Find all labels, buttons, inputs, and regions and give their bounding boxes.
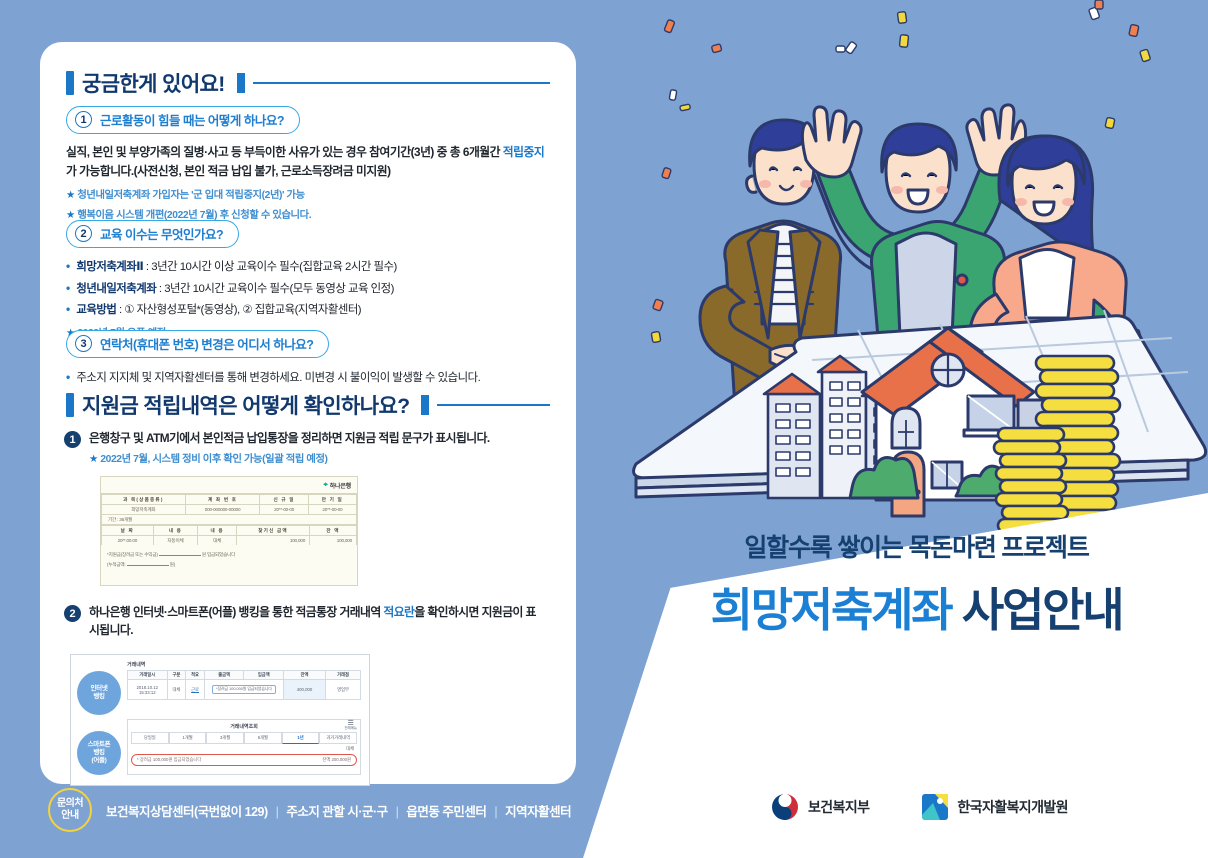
contact-badge: 문의처 안내 <box>48 788 92 832</box>
bb-val-2: 20**-00-00 <box>260 505 308 515</box>
faq-bullet-2-3-desc: : ① 자산형성포털*(동영상), ② 집합교육(지역자활센터) <box>116 304 361 316</box>
step-1-star-text: 2022년 7월, 시스템 정비 이후 확인 가능(일괄 적립 예정) <box>100 454 327 465</box>
deposit-step-1: 1 은행창구 및 ATM기에서 본인적금 납입통장을 정리하면 지원금 적립 문… <box>64 430 549 468</box>
brochure-title-main: 희망저축계좌 <box>711 584 952 636</box>
step-badge-2: 2 <box>64 605 81 622</box>
faq-pill-2[interactable]: 2 교육 이수는 무엇인가요? <box>66 220 239 248</box>
bb-head-1: 계 좌 번 호 <box>185 495 260 505</box>
logo-kdis-text: 한국자활복지개발원 <box>957 797 1068 817</box>
smartphone-header: 거래내역조회 ☰ 전체메뉴 <box>131 723 357 730</box>
contact-sep-icon: | <box>494 805 497 819</box>
brochure-kicker: 일할수록 쌓이는 목돈마련 프로젝트 <box>625 528 1208 564</box>
section-heading-faq: 궁금한게 있어요! <box>66 68 550 98</box>
smartphone-banking-pill: 스마트폰 뱅킹 (어플) <box>77 731 121 775</box>
bankbook-screenshot: ⌖ 하나은행 과 목(상품종류) 계 좌 번 호 신 규 일 만 기 일 희망저… <box>100 476 358 586</box>
deposit-step-2: 2 하나은행 인터넷·스마트폰(어플) 뱅킹을 통한 적금통장 거래내역 적요란… <box>64 604 550 639</box>
hana-bank-logo: ⌖ 하나은행 <box>323 481 351 490</box>
faq-label-3: 연락처(휴대폰 번호) 변경은 어디서 하나요? <box>100 334 313 353</box>
smartphone-red-left: * 장려금 100,000원 입금되었습니다 <box>137 757 201 763</box>
bb-period: 기간 : 36개월 <box>102 515 357 525</box>
smartphone-highlight-row: * 장려금 100,000원 입금되었습니다 잔액 200,000원 <box>131 754 357 766</box>
bb-tx-head-3: 찾기신 금액 <box>236 526 309 536</box>
step-1-text: 은행창구 및 ATM기에서 본인적금 납입통장을 정리하면 지원금 적립 문구가… <box>89 430 549 448</box>
left-info-card: 궁금한게 있어요! 1 근로활동이 힘들 때는 어떻게 하나요? 실직, 본인 … <box>40 42 576 784</box>
contact-badge-l1: 문의처 <box>57 798 83 811</box>
step-2-highlight: 적요란 <box>383 605 414 619</box>
banking-screenshot-panel: 인터넷 뱅킹 거래내역 거래일시 구분 적요 출금액 입금액 잔액 거래점 <box>70 654 370 786</box>
ib-head-row: 거래일시 구분 적요 출금액 입금액 잔액 거래점 <box>128 671 361 680</box>
faq-body-1: 실직, 본인 및 부양가족의 질병·사고 등 부득이한 사유가 있는 경우 참여… <box>66 143 548 181</box>
logo-kdis: 한국자활복지개발원 <box>921 793 1068 821</box>
hamburger-menu-icon[interactable]: ☰ 전체메뉴 <box>345 722 357 731</box>
ib-cell-type: 대체 <box>167 680 186 700</box>
bb-note2-blank <box>127 565 169 566</box>
hana-logo-icon: ⌖ <box>323 481 327 489</box>
tab-1year[interactable]: 1년 <box>282 732 320 744</box>
logo-mohw: 보건복지부 <box>770 792 869 822</box>
ib-col-6: 거래점 <box>326 671 361 680</box>
bb-note1-pre: *지원금(장려금 또는 수익금) <box>107 552 158 557</box>
faq-number-3: 3 <box>75 335 92 352</box>
tab-1month[interactable]: 1개월 <box>169 732 207 744</box>
contact-item-0: 보건복지상담센터(국번없이 129) <box>106 805 268 819</box>
ib-col-1: 구분 <box>167 671 186 680</box>
heading-bar-icon-2 <box>421 395 429 415</box>
internet-banking-caption: 거래내역 <box>127 661 361 668</box>
ib-tooltip: *장려금 100,000원 입금되었습니다 <box>212 685 276 694</box>
ib-col-3: 출금액 <box>204 671 244 680</box>
bb-tx-head-0: 날 짜 <box>102 526 154 536</box>
bankbook-tx-head: 날 짜 내 용 내 용 찾기신 금액 잔 액 <box>102 526 357 536</box>
smartphone-pill-l2: 뱅킹 <box>93 749 104 757</box>
internet-banking-block: 인터넷 뱅킹 거래내역 거래일시 구분 적요 출금액 입금액 잔액 거래점 <box>71 655 369 715</box>
right-title-block: 일할수록 쌓이는 목돈마련 프로젝트 희망저축계좌 사업안내 <box>625 528 1208 640</box>
faq-item-3: 3 연락처(휴대폰 번호) 변경은 어디서 하나요? 주소지 지지체 및 지역자… <box>66 330 480 389</box>
contact-item-2: 읍면동 주민센터 <box>406 805 486 819</box>
brochure-title-sub: 사업안내 <box>962 584 1122 636</box>
bankbook-note-line-1: *지원금(장려금 또는 수익금) 원 입금되었습니다 <box>107 550 351 560</box>
bb-note1-post: 원 입금되었습니다 <box>202 552 235 557</box>
brochure-page: 궁금한게 있어요! 1 근로활동이 힘들 때는 어떻게 하나요? 실직, 본인 … <box>0 0 1208 858</box>
internet-banking-pill-l2: 뱅킹 <box>93 693 104 701</box>
bankbook-note: *지원금(장려금 또는 수익금) 원 입금되었습니다 (누적금액: 원) <box>101 545 357 585</box>
faq-star-1-1-text: 청년내일저축계좌 가입자는 '군 입대 적립중지(2년)' 가능 <box>77 190 304 201</box>
bankbook-value-row: 희망저축계좌 000-000000-00000 20**-00-00 20**-… <box>102 505 357 515</box>
contact-item-1: 주소지 관할 시·군·구 <box>286 805 387 819</box>
faq-number-2: 2 <box>75 225 92 242</box>
faq-pill-3[interactable]: 3 연락처(휴대폰 번호) 변경은 어디서 하나요? <box>66 330 329 358</box>
heading-rule <box>253 82 550 84</box>
bb-tx-head-1: 내 용 <box>153 526 198 536</box>
faq-bullet-2-2-term: 청년내일저축계좌 <box>76 283 156 295</box>
internet-banking-table[interactable]: 거래일시 구분 적요 출금액 입금액 잔액 거래점 2018.10.1215:3… <box>127 670 361 700</box>
ib-col-2: 적요 <box>186 671 205 680</box>
ib-cell-tooltip: *장려금 100,000원 입금되었습니다 <box>204 680 283 700</box>
bb-head-2: 신 규 일 <box>260 495 308 505</box>
bankbook-account-table: 과 목(상품종류) 계 좌 번 호 신 규 일 만 기 일 희망저축계좌 000… <box>101 494 357 525</box>
heading-bar-icon <box>66 71 74 95</box>
bb-note1-blank <box>159 555 201 556</box>
tab-3month[interactable]: 3개월 <box>206 732 244 744</box>
footer-contact: 문의처 안내 보건복지상담센터(국번없이 129) | 주소지 관할 시·군·구… <box>48 788 571 832</box>
smartphone-row-label: 대체 <box>131 744 357 754</box>
bb-val-1: 000-000000-00000 <box>185 505 260 515</box>
section1-title: 궁금한게 있어요! <box>82 68 225 98</box>
faq-number-1: 1 <box>75 111 92 128</box>
faq-bullet-2-2: 청년내일저축계좌 : 3년간 10시간 교육이수 필수(모두 동영상 교육 인정… <box>66 278 397 300</box>
faq-bullet-2-1: 희망저축계좌Ⅱ : 3년간 10시간 이상 교육이수 필수(집합교육 2시간 필… <box>66 256 397 278</box>
heading-rule <box>437 404 550 406</box>
contact-sep-icon: | <box>396 805 399 819</box>
smartphone-red-right: 잔액 200,000원 <box>322 757 351 763</box>
bb-val-3: 20**-00-00 <box>308 505 356 515</box>
section2-title: 지원금 적립내역은 어떻게 확인하나요? <box>82 390 409 420</box>
bb-tx-1: 자동이체 <box>153 536 198 546</box>
star-icon: ★ <box>89 454 98 465</box>
faq-bullet-2-1-desc: : 3년간 10시간 이상 교육이수 필수(집합교육 2시간 필수) <box>143 261 397 273</box>
org-logos: 보건복지부 한국자활복지개발원 <box>770 792 1068 822</box>
smartphone-banking-block: 스마트폰 뱅킹 (어플) 거래내역조회 ☰ 전체메뉴 당일일 1개월 <box>71 715 369 781</box>
tab-6month[interactable]: 6개월 <box>244 732 282 744</box>
faq-bullet-2-1-term: 희망저축계좌Ⅱ <box>76 261 143 273</box>
brochure-title: 희망저축계좌 사업안내 <box>625 574 1208 640</box>
smartphone-pill-l1: 스마트폰 <box>88 741 111 749</box>
faq-item-2: 2 교육 이수는 무엇인가요? 희망저축계좌Ⅱ : 3년간 10시간 이상 교육… <box>66 220 397 342</box>
bb-note2-post: 원) <box>170 562 175 567</box>
bb-val-0: 희망저축계좌 <box>102 505 186 515</box>
ib-col-5: 잔액 <box>284 671 326 680</box>
faq-bullets-2: 희망저축계좌Ⅱ : 3년간 10시간 이상 교육이수 필수(집합교육 2시간 필… <box>66 256 397 321</box>
faq-body-1-post: 가 가능합니다.(사전신청, 본인 적금 납입 불가, 근로소득장려금 미지원) <box>66 164 391 178</box>
ib-data-row: 2018.10.1215:33:12 대체 근로 *장려금 100,000원 입… <box>128 680 361 700</box>
ib-col-4: 입금액 <box>244 671 284 680</box>
bb-tx-head-4: 잔 액 <box>310 526 357 536</box>
taegeuk-icon <box>770 792 800 822</box>
ib-memo-link[interactable]: 근로 <box>191 687 199 692</box>
faq-star-1-1: ★ 청년내일저축계좌 가입자는 '군 입대 적립중지(2년)' 가능 <box>66 188 548 204</box>
logo-mohw-text: 보건복지부 <box>808 797 869 817</box>
step-2-row: 2 하나은행 인터넷·스마트폰(어플) 뱅킹을 통한 적금통장 거래내역 적요란… <box>64 604 550 639</box>
bankbook-head-row: 과 목(상품종류) 계 좌 번 호 신 규 일 만 기 일 <box>102 495 357 505</box>
section-heading-deposit: 지원금 적립내역은 어떻게 확인하나요? <box>66 390 550 420</box>
contact-sep-icon: | <box>276 805 279 819</box>
bb-head-0: 과 목(상품종류) <box>102 495 186 505</box>
internet-banking-pill-l1: 인터넷 <box>90 685 107 693</box>
faq-bullet-2-3-term: 교육방법 <box>76 304 116 316</box>
smartphone-period-tabs[interactable]: 당일일 1개월 3개월 6개월 1년 과거거래내역 <box>131 732 357 744</box>
faq-item-1: 1 근로활동이 힘들 때는 어떻게 하나요? 실직, 본인 및 부양가족의 질병… <box>66 106 548 224</box>
contact-item-3: 지역자활센터 <box>505 805 571 819</box>
step-1-star: ★ 2022년 7월, 시스템 정비 이후 확인 가능(일괄 적립 예정) <box>89 452 549 468</box>
ib-cell-branch: 영업부 <box>326 680 361 700</box>
bankbook-note-line-2: (누적금액: 원) <box>107 560 351 570</box>
bb-head-3: 만 기 일 <box>308 495 356 505</box>
star-icon: ★ <box>66 190 75 201</box>
step-1-row: 1 은행창구 및 ATM기에서 본인적금 납입통장을 정리하면 지원금 적립 문… <box>64 430 549 448</box>
bb-tx-3: 100,000 <box>236 536 309 546</box>
faq-label-2: 교육 이수는 무엇인가요? <box>100 224 223 243</box>
faq-bullet-2-3: 교육방법 : ① 자산형성포털*(동영상), ② 집합교육(지역자활센터) <box>66 299 397 321</box>
heading-bar-icon-2 <box>237 73 245 93</box>
bankbook-tx-table: 날 짜 내 용 내 용 찾기신 금액 잔 액 20**.00.00 자동이체 대… <box>101 525 357 545</box>
tab-past[interactable]: 과거거래내역 <box>319 732 357 744</box>
contact-badge-l2: 안내 <box>61 810 78 823</box>
ib-cell-balance: 400,000 <box>284 680 326 700</box>
hana-bank-name: 하나은행 <box>330 481 351 490</box>
faq-bullet-2-2-desc: : 3년간 10시간 교육이수 필수(모두 동영상 교육 인정) <box>156 283 394 295</box>
contact-items: 보건복지상담센터(국번없이 129) | 주소지 관할 시·군·구 | 읍면동 … <box>106 801 571 820</box>
heading-bar-icon <box>66 393 74 417</box>
smartphone-caption: 거래내역조회 <box>230 723 258 730</box>
faq-bullet-3-1-desc: 주소지 지지체 및 지역자활센터를 통해 변경하세요. 미변경 시 불이익이 발… <box>76 372 480 384</box>
bb-tx-0: 20**.00.00 <box>102 536 154 546</box>
ib-cell-date: 2018.10.1215:33:12 <box>128 680 168 700</box>
faq-body-1-highlight: 적립중지 <box>503 145 544 159</box>
ib-cell-memo[interactable]: 근로 <box>186 680 205 700</box>
faq-pill-1[interactable]: 1 근로활동이 힘들 때는 어떻게 하나요? <box>66 106 300 134</box>
step-2-pre: 하나은행 인터넷·스마트폰(어플) 뱅킹을 통한 적금통장 거래내역 <box>89 605 383 619</box>
faq-bullet-3-1: 주소지 지지체 및 지역자활센터를 통해 변경하세요. 미변경 시 불이익이 발… <box>66 367 480 389</box>
bankbook-logo-row: ⌖ 하나은행 <box>101 477 357 494</box>
smartphone-pill-l3: (어플) <box>91 757 106 765</box>
bb-tx-2: 대체 <box>198 536 237 546</box>
ib-col-0: 거래일시 <box>128 671 168 680</box>
bankbook-tx-row: 20**.00.00 자동이체 대체 100,000 100,000 <box>102 536 357 546</box>
internet-banking-table-wrap: 거래내역 거래일시 구분 적요 출금액 입금액 잔액 거래점 2018.10 <box>127 661 361 715</box>
internet-banking-pill: 인터넷 뱅킹 <box>77 671 121 715</box>
bb-note2-pre: (누적금액: <box>107 562 126 567</box>
faq-label-1: 근로활동이 힘들 때는 어떻게 하나요? <box>100 110 284 129</box>
faq-body-1-pre: 실직, 본인 및 부양가족의 질병·사고 등 부득이한 사유가 있는 경우 참여… <box>66 145 503 159</box>
smartphone-screen: 거래내역조회 ☰ 전체메뉴 당일일 1개월 3개월 6개월 1년 과거거래내역 <box>127 719 361 775</box>
step-badge-1: 1 <box>64 431 81 448</box>
step-2-text: 하나은행 인터넷·스마트폰(어플) 뱅킹을 통한 적금통장 거래내역 적요란을 … <box>89 604 544 639</box>
kdis-icon <box>921 793 949 821</box>
bb-tx-head-2: 내 용 <box>198 526 237 536</box>
bankbook-period-row: 기간 : 36개월 <box>102 515 357 525</box>
bb-tx-4: 100,000 <box>310 536 357 546</box>
tab-today[interactable]: 당일일 <box>131 732 169 744</box>
